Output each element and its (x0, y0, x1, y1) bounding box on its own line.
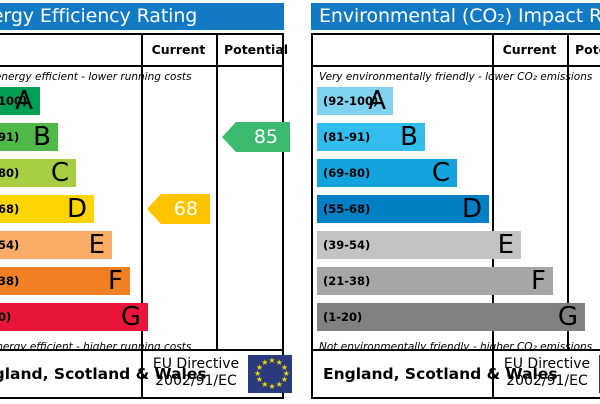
co2-band-f: (21-38)F (317, 267, 553, 295)
co2-band-letter-e: E (498, 232, 514, 258)
energy-band-letter-b: B (33, 124, 51, 150)
co2-chart-body: Current Potential Very environmentally f… (311, 33, 600, 399)
energy-band-letter-d: D (67, 196, 87, 222)
co2-band-e: (39-54)E (317, 231, 521, 259)
co2-band-range-d: (55-68) (323, 195, 370, 223)
co2-band-letter-g: G (558, 304, 578, 330)
co2-current-column-header: Current (492, 35, 567, 65)
energy-directive-line-1: EU Directive (146, 356, 246, 373)
energy-band-letter-e: E (89, 232, 105, 258)
co2-chart-title: Environmental (CO₂) Impact Rating (311, 3, 600, 30)
co2-footer: England, Scotland & Wales EU Directive 2… (313, 349, 600, 397)
co2-band-b: (81-91)B (317, 123, 425, 151)
co2-band-range-g: (1-20) (323, 303, 362, 331)
energy-band-b: (81-91)B (0, 123, 58, 151)
energy-efficiency-rating-chart: Energy Efficiency Rating Current Potenti… (0, 0, 292, 404)
co2-band-range-e: (39-54) (323, 231, 370, 259)
energy-band-range-e: (39-54) (0, 231, 19, 259)
energy-band-range-f: (21-38) (0, 267, 19, 295)
energy-band-c: (69-80)C (0, 159, 76, 187)
co2-band-d: (55-68)D (317, 195, 489, 223)
co2-band-letter-a: A (368, 88, 386, 114)
energy-current-rating-value: 68 (174, 198, 198, 220)
co2-band-g: (1-20)G (317, 303, 585, 331)
energy-current-rating-marker: 68 (147, 194, 210, 224)
co2-band-letter-c: C (432, 160, 450, 186)
energy-potential-rating-value: 85 (254, 126, 278, 148)
energy-band-f: (21-38)F (0, 267, 130, 295)
energy-divider-right (216, 35, 218, 367)
eu-flag-star: ★ (268, 357, 275, 365)
energy-band-range-c: (69-80) (0, 159, 19, 187)
energy-chart-body: Current Potential Very energy efficient … (0, 33, 284, 399)
co2-column-header-row: Current Potential (313, 35, 600, 67)
co2-directive-line-2: 2002/91/EC (497, 373, 597, 390)
eu-flag-star: ★ (268, 383, 275, 391)
co2-potential-column-header: Potential (567, 35, 600, 65)
energy-band-letter-f: F (108, 268, 123, 294)
co2-band-range-c: (69-80) (323, 159, 370, 187)
environmental-co2-impact-rating-chart: Environmental (CO₂) Impact Rating Curren… (303, 0, 600, 404)
co2-footer-directive: EU Directive 2002/91/EC (497, 356, 597, 390)
energy-band-range-b: (81-91) (0, 123, 19, 151)
energy-directive-line-2: 2002/91/EC (146, 373, 246, 390)
energy-potential-column-header: Potential (216, 35, 292, 65)
energy-top-note: Very energy efficient - lower running co… (0, 71, 192, 83)
energy-band-letter-c: C (51, 160, 69, 186)
energy-band-e: (39-54)E (0, 231, 112, 259)
energy-band-letter-g: G (121, 304, 141, 330)
energy-band-range-d: (55-68) (0, 195, 19, 223)
co2-top-note: Very environmentally friendly - lower CO… (319, 71, 592, 83)
energy-chart-title: Energy Efficiency Rating (0, 3, 284, 30)
energy-band-g: (1-20)G (0, 303, 148, 331)
co2-band-letter-d: D (462, 196, 482, 222)
eu-flag-star: ★ (261, 359, 268, 367)
co2-band-range-b: (81-91) (323, 123, 370, 151)
co2-band-letter-b: B (400, 124, 418, 150)
energy-band-range-g: (1-20) (0, 303, 11, 331)
eu-flag-icon: ★★★★★★★★★★★★ (248, 355, 292, 393)
energy-potential-rating-marker: 85 (222, 122, 290, 152)
energy-footer-directive: EU Directive 2002/91/EC (146, 356, 246, 390)
co2-band-letter-f: F (531, 268, 546, 294)
energy-current-column-header: Current (141, 35, 216, 65)
co2-directive-line-1: EU Directive (497, 356, 597, 373)
eu-flag-star: ★ (276, 381, 283, 389)
co2-band-range-f: (21-38) (323, 267, 370, 295)
energy-footer: England, Scotland & Wales EU Directive 2… (0, 349, 282, 397)
energy-band-letter-a: A (15, 88, 33, 114)
energy-band-a: (92-100)A (0, 87, 40, 115)
co2-band-c: (69-80)C (317, 159, 457, 187)
co2-band-a: (92-100)A (317, 87, 393, 115)
energy-band-d: (55-68)D (0, 195, 94, 223)
